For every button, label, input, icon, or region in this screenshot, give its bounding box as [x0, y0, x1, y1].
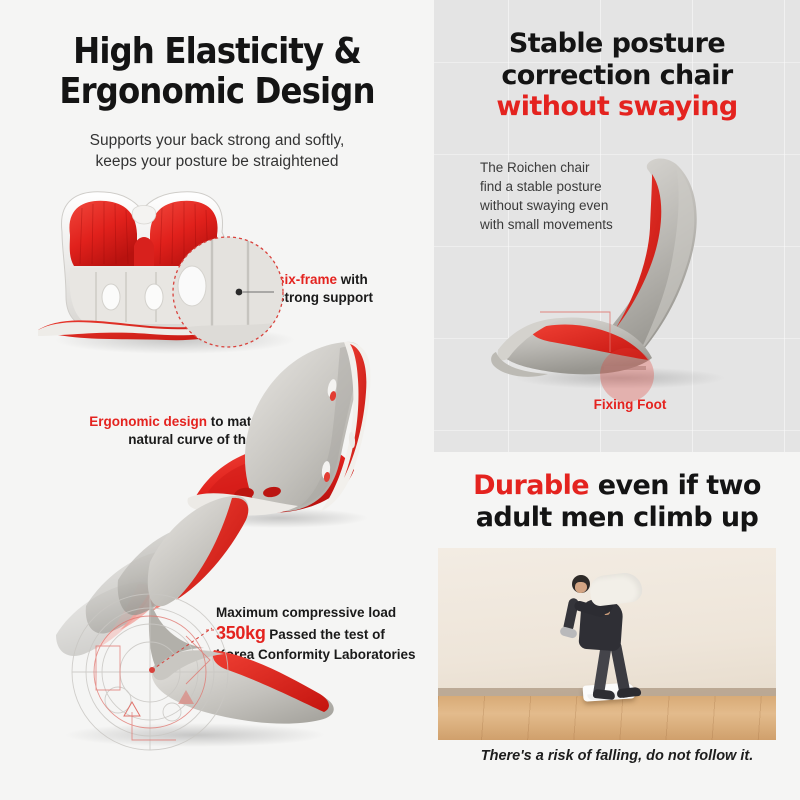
ergonomic-rest: to match the — [207, 414, 291, 429]
photo-caption: There's a risk of falling, do not follow… — [434, 748, 800, 764]
durable-accent: Durable — [473, 470, 589, 501]
callout-ergonomic: Ergonomic design to match the natural cu… — [46, 413, 291, 449]
left-subhead: Supports your back strong and softly, ke… — [0, 131, 434, 173]
left-subhead-line1: Supports your back strong and softly, — [0, 131, 434, 152]
callout-load: Maximum compressive load 350kg Passed th… — [216, 604, 431, 664]
load-line1: Maximum compressive load — [216, 604, 431, 622]
durable-rest: even if two — [589, 470, 761, 501]
right-headline-line1: Stable posture — [434, 28, 800, 60]
six-frame-rest: with — [337, 272, 368, 287]
fixing-foot-label: Fixing Foot — [560, 397, 700, 412]
right-body-line4: with small movements — [480, 215, 660, 234]
ergonomic-accent: Ergonomic design — [89, 414, 207, 429]
left-headline: High Elasticity & Ergonomic Design — [0, 32, 434, 113]
ergonomic-line2: natural curve of the waist — [128, 432, 291, 447]
right-top-headline: Stable posture correction chair without … — [434, 28, 800, 123]
right-body-line2: find a stable posture — [480, 177, 660, 196]
right-top-body: The Roichen chair find a stable posture … — [480, 158, 660, 235]
load-line2-rest: Passed the test of — [266, 627, 385, 642]
durable-headline-line1: Durable even if two — [434, 470, 800, 502]
photo-shoe-right — [617, 687, 642, 698]
infographic-page: High Elasticity & Ergonomic Design Suppo… — [0, 0, 800, 800]
right-body-line1: The Roichen chair — [480, 158, 660, 177]
photo-floor — [438, 696, 776, 740]
durable-headline: Durable even if two adult men climb up — [434, 470, 800, 534]
left-headline-line1: High Elasticity & — [0, 32, 434, 72]
load-value: 350kg — [216, 623, 266, 643]
left-headline-line2: Ergonomic Design — [0, 72, 434, 112]
right-body-line3: without swaying even — [480, 196, 660, 215]
fixing-foot-highlight — [600, 348, 654, 402]
right-headline-line2: correction chair — [434, 60, 800, 92]
durable-headline-line2: adult men climb up — [434, 502, 800, 534]
right-headline-accent: without swaying — [434, 91, 800, 123]
callout-six-frame: six-frame with strong support — [277, 271, 427, 307]
photo-shoe-left — [593, 689, 616, 700]
six-frame-line2: strong support — [277, 290, 373, 305]
seat-brand-mark — [122, 316, 156, 322]
durability-photo — [438, 548, 776, 740]
load-line3: Korea Conformity Laboratories — [216, 646, 431, 664]
left-panel — [0, 0, 434, 800]
six-frame-accent: six-frame — [277, 272, 337, 287]
left-subhead-line2: keeps your posture be straightened — [0, 152, 434, 173]
